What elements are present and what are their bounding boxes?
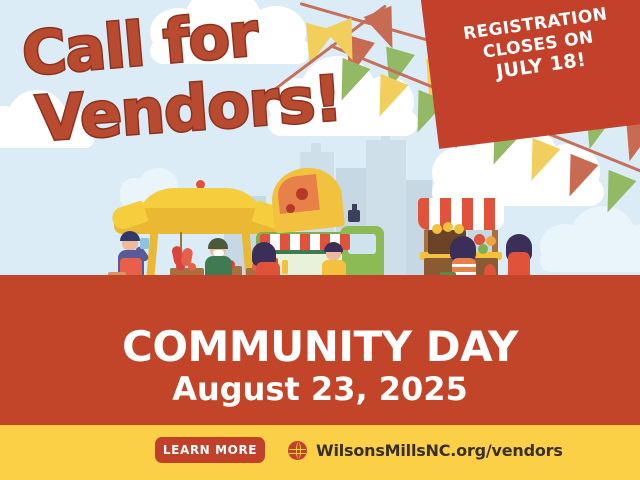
registration-deadline-badge: REGISTRATION CLOSES ON JULY 18! <box>418 0 640 149</box>
learn-more-button[interactable]: LEARN MORE <box>155 437 265 463</box>
website-link[interactable]: WilsonsMillsNC.org/vendors <box>288 438 563 462</box>
promotional-flyer: 30% OFF Call for Vendors! REGISTRATION C… <box>0 0 640 480</box>
page-title: Call for Vendors! <box>14 6 344 156</box>
badge-text: REGISTRATION CLOSES ON JULY 18! <box>424 0 640 92</box>
globe-icon <box>288 441 307 460</box>
website-url-text: WilsonsMillsNC.org/vendors <box>316 441 563 460</box>
event-title: COMMUNITY DAY <box>0 325 640 369</box>
event-date: August 23, 2025 <box>0 372 640 406</box>
